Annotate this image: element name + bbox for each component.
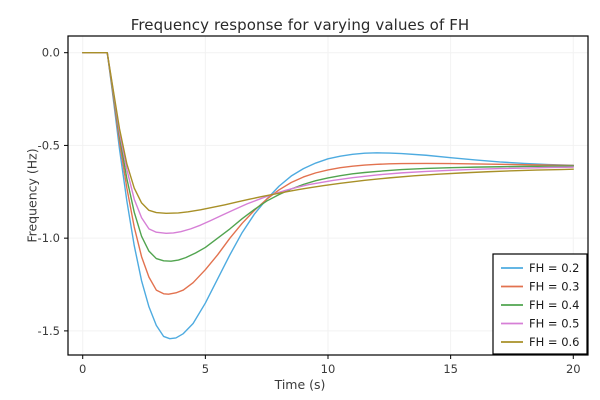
x-tick-label: 5 <box>202 362 209 376</box>
legend-label: FH = 0.6 <box>529 335 580 349</box>
y-tick-label: 0.0 <box>42 46 60 60</box>
legend-label: FH = 0.3 <box>529 280 580 294</box>
legend-label: FH = 0.4 <box>529 298 580 312</box>
y-tick-label: -1.5 <box>38 324 60 338</box>
x-tick-label: 20 <box>566 362 581 376</box>
x-tick-label: 10 <box>321 362 336 376</box>
legend-label: FH = 0.2 <box>529 261 580 275</box>
legend[interactable]: FH = 0.2FH = 0.3FH = 0.4FH = 0.5FH = 0.6 <box>493 254 587 354</box>
legend-label: FH = 0.5 <box>529 317 580 331</box>
x-tick-label: 0 <box>79 362 86 376</box>
chart-container: Frequency response for varying values of… <box>0 0 600 400</box>
y-tick-label: -0.5 <box>38 138 60 152</box>
y-tick-label: -1.0 <box>38 231 60 245</box>
x-tick-label: 15 <box>443 362 458 376</box>
plot-canvas: 0.0-0.5-1.0-1.505101520 FH = 0.2FH = 0.3… <box>0 0 600 400</box>
